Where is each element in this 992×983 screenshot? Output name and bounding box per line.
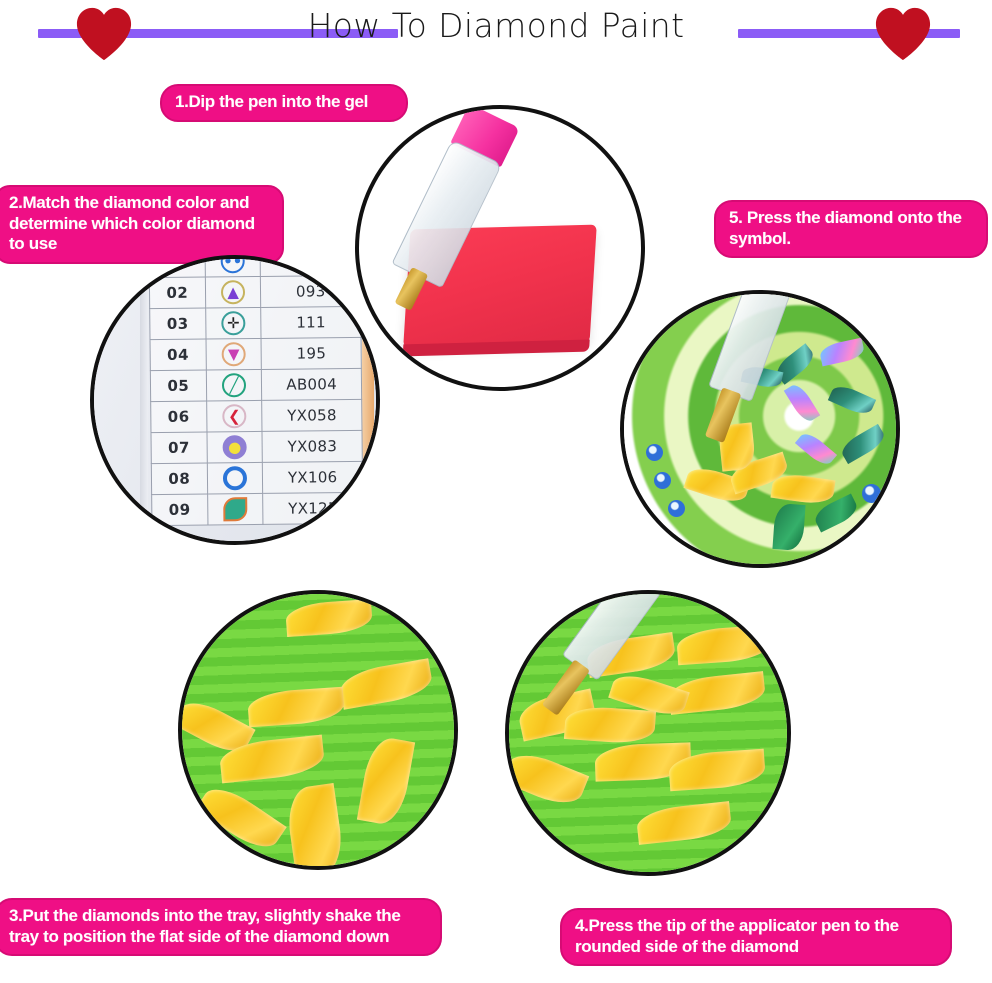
row-code: YX106 [263,461,363,493]
row-number: 04 [150,339,206,371]
row-number: 05 [150,370,206,402]
pen-barrel [708,290,794,402]
table-row: 08 ◯ YX106 [151,461,362,494]
symbol-icon: ▲ [221,280,245,304]
symbol-code-table: •• 028 02 ▲ 093 03 ✛ [149,255,364,526]
row-code: 093 [261,275,361,307]
symbol-icon: ╱ [222,373,246,397]
symbol-icon: ● [223,435,247,459]
row-number: 07 [151,432,207,464]
row-code: YX058 [262,399,362,431]
symbol-icon: ❮ [222,404,246,428]
row-code: 195 [261,337,361,369]
step-1-photo [355,105,645,391]
row-symbol: ✛ [205,307,261,339]
row-number: 08 [151,463,207,495]
row-symbol: ● [207,431,263,463]
step-2-photo: •• 028 02 ▲ 093 03 ✛ [90,255,380,545]
round-gem [862,484,881,503]
step-4-label: 4.Press the tip of the applicator pen to… [560,908,952,966]
symbol-icon: ✛ [221,311,245,335]
row-number: 02 [149,277,205,309]
chart-left-margin [140,259,148,541]
step-5-photo [620,290,900,568]
row-code: YX125 [263,492,363,524]
row-symbol: ◯ [207,462,263,494]
row-number: 06 [151,401,207,433]
row-symbol: ▲ [205,276,261,308]
table-row: 03 ✛ 111 [150,306,361,339]
step-3-photo [178,590,458,870]
round-gem [654,472,671,489]
pen-tip [705,387,742,443]
row-symbol: ▼ [206,338,262,370]
table-row: 07 ● YX083 [151,430,362,463]
step-4-photo [505,590,791,876]
row-symbol: ╱ [206,369,262,401]
row-symbol: ◆ [207,493,263,525]
row-code: 111 [261,306,361,338]
chart-right-margin [362,259,374,541]
symbol-icon: •• [221,255,245,273]
table-row: 05 ╱ AB004 [150,368,361,401]
row-code: AB004 [262,368,362,400]
pen-barrel [391,140,502,289]
table-row: 06 ❮ YX058 [151,399,362,432]
table-row: 04 ▼ 195 [150,337,361,370]
row-symbol: ❮ [206,400,262,432]
infographic-page: How To Diamond Paint 1.Dip the pen into … [0,0,992,983]
header-banner: How To Diamond Paint [0,0,992,62]
table-row: 09 ◆ YX125 [152,492,363,525]
step-2-label: 2.Match the diamond color and determine … [0,185,284,264]
pen-tip [395,267,429,311]
row-code: YX083 [262,430,362,462]
table-row-partial: •• 028 [149,255,360,278]
row-symbol: •• [205,255,261,277]
page-title: How To Diamond Paint [0,6,992,45]
table-row: 02 ▲ 093 [149,275,360,308]
symbol-chart-sheet: •• 028 02 ▲ 093 03 ✛ [94,259,376,541]
row-number: 09 [152,494,208,526]
symbol-icon: ◯ [223,466,247,490]
row-number: 03 [150,308,206,340]
row-number [149,255,205,278]
pen-tip [542,659,590,715]
symbol-icon: ▼ [222,342,246,366]
symbol-icon: ◆ [223,497,247,521]
step-1-label: 1.Dip the pen into the gel [160,84,408,122]
round-gem [668,500,685,517]
step-3-label: 3.Put the diamonds into the tray, slight… [0,898,442,956]
row-code: 028 [260,255,360,276]
symbol-code-table-body: •• 028 02 ▲ 093 03 ✛ [149,255,363,526]
step-5-label: 5. Press the diamond onto the symbol. [714,200,988,258]
